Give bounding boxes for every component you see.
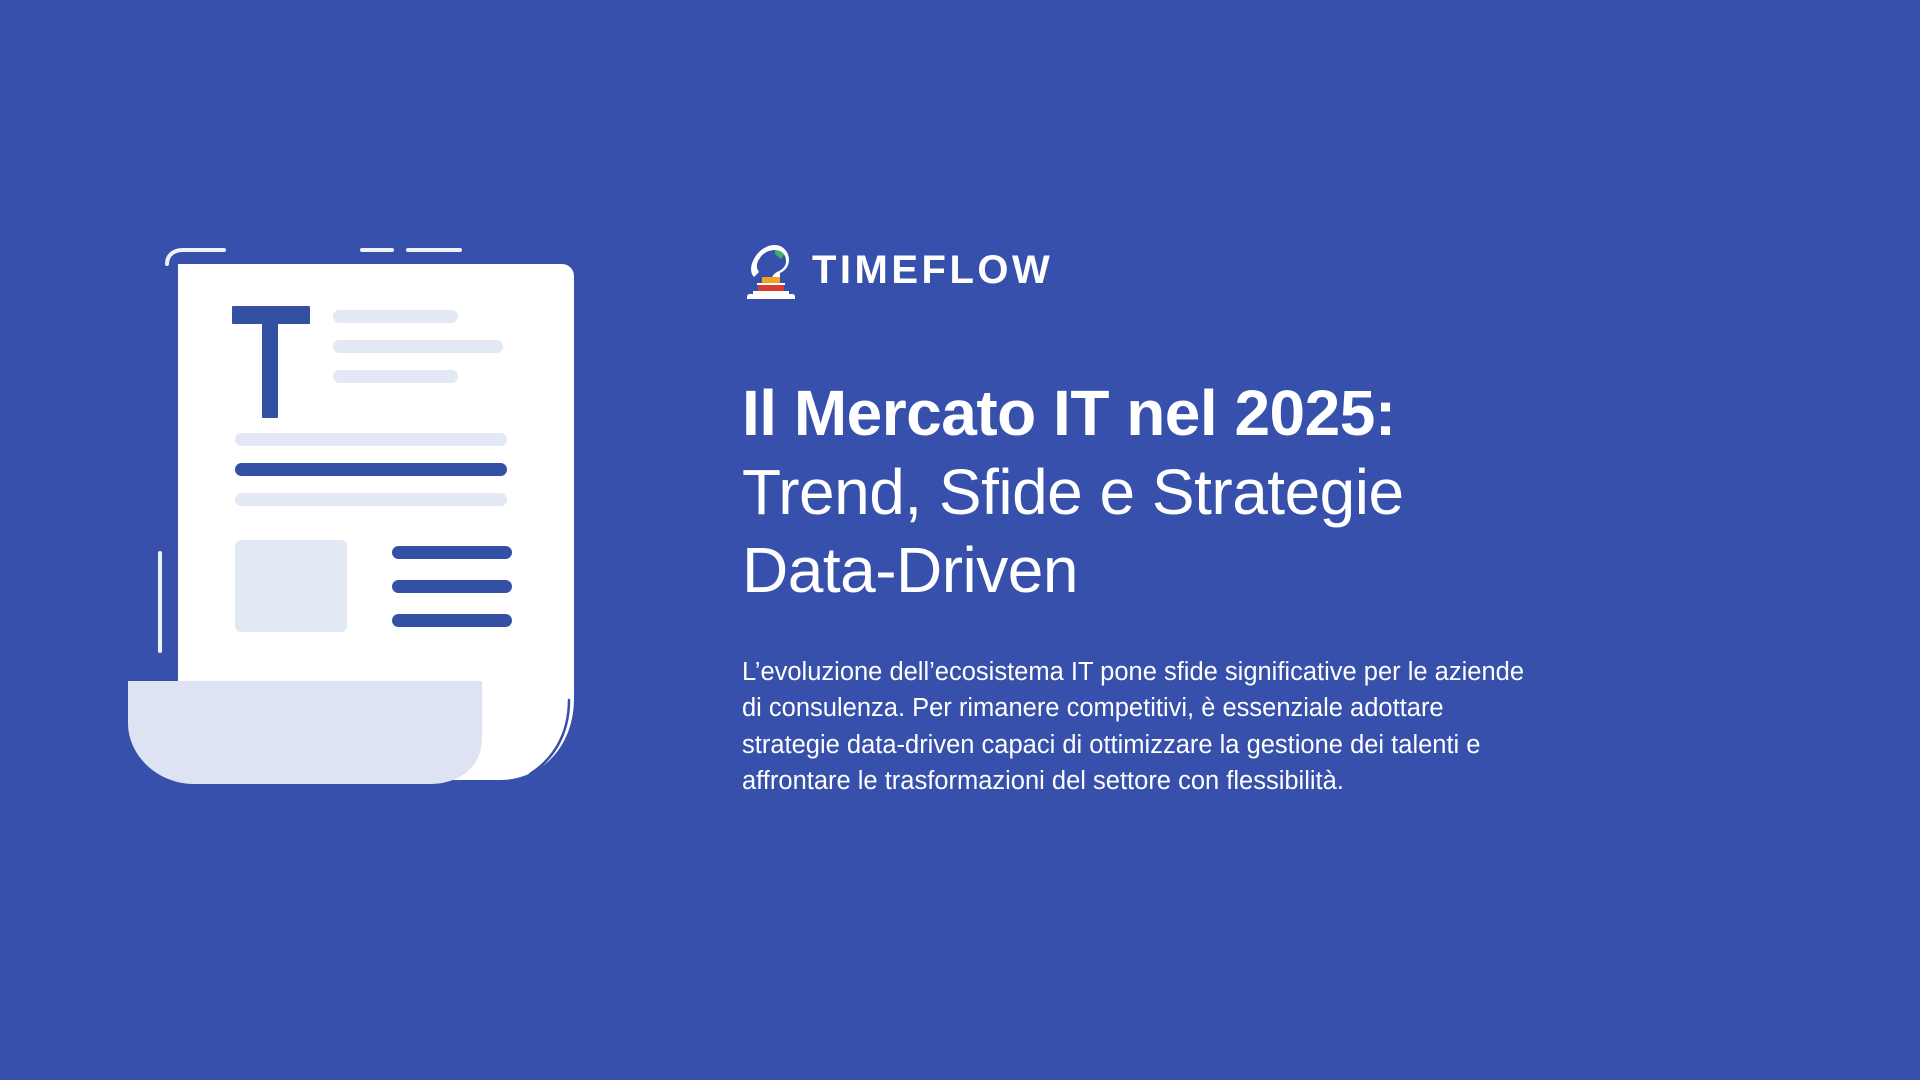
brand-logo[interactable]: TIMEFLOW [742, 236, 1832, 304]
page-title: Il Mercato IT nel 2025: Trend, Sfide e S… [742, 374, 1832, 610]
hero-content: TIMEFLOW Il Mercato IT nel 2025: Trend, … [742, 236, 1832, 799]
brand-wordmark: TIMEFLOW [812, 250, 1053, 290]
illustration-svg [120, 228, 640, 838]
lead-line-1: L’evoluzione dell’ecosistema IT pone sfi… [742, 654, 1817, 690]
lead-line-3: strategie data-driven capaci di ottimizz… [742, 727, 1817, 763]
page-title-line-3: Data-Driven [742, 531, 1832, 610]
list-lines [392, 546, 512, 627]
lead-line-2: di consulenza. Per rimanere competitivi,… [742, 690, 1817, 726]
lead-line-4: affrontare le trasformazioni del settore… [742, 763, 1817, 799]
book-band-red [758, 285, 784, 291]
highlight-line [235, 463, 507, 476]
page-title-line-2: Trend, Sfide e Strategie [742, 453, 1832, 532]
body-lines [235, 433, 507, 506]
lead-paragraph: L’evoluzione dell’ecosistema IT pone sfi… [742, 654, 1817, 799]
page-title-line-1: Il Mercato IT nel 2025: [742, 374, 1832, 453]
image-placeholder [235, 540, 347, 632]
document-article-illustration [120, 228, 640, 838]
chess-knight-on-books-icon [742, 239, 798, 301]
book-band-orange [762, 277, 780, 283]
page-curl-footer [128, 681, 482, 784]
page-outline-dashes [167, 250, 460, 264]
